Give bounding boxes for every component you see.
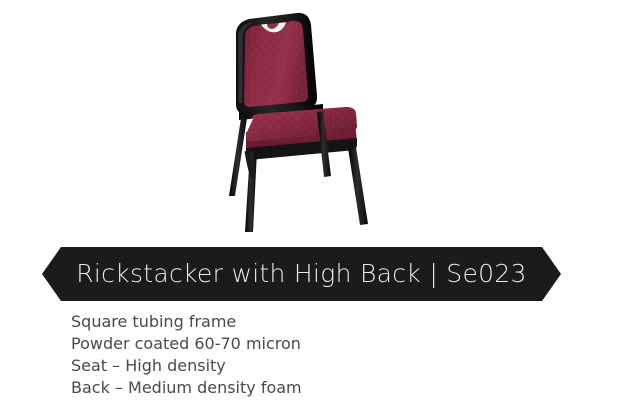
backrest-texture <box>244 21 308 107</box>
product-photo <box>205 8 390 240</box>
spec-item: Back – Medium density foam <box>71 377 491 399</box>
leg-rear-left <box>229 118 247 196</box>
page-title: Rickstacker with High Back | Se023 <box>42 247 561 301</box>
spec-item: Square tubing frame <box>71 311 491 333</box>
spec-item: Seat – High density <box>71 355 491 377</box>
specification-list: Square tubing frame Powder coated 60-70 … <box>71 311 491 399</box>
chair-photo-icon <box>205 8 390 240</box>
spec-item: Powder coated 60-70 micron <box>71 333 491 355</box>
leg-front-right <box>348 147 368 225</box>
product-title-banner: Rickstacker with High Back | Se023 <box>42 247 561 301</box>
